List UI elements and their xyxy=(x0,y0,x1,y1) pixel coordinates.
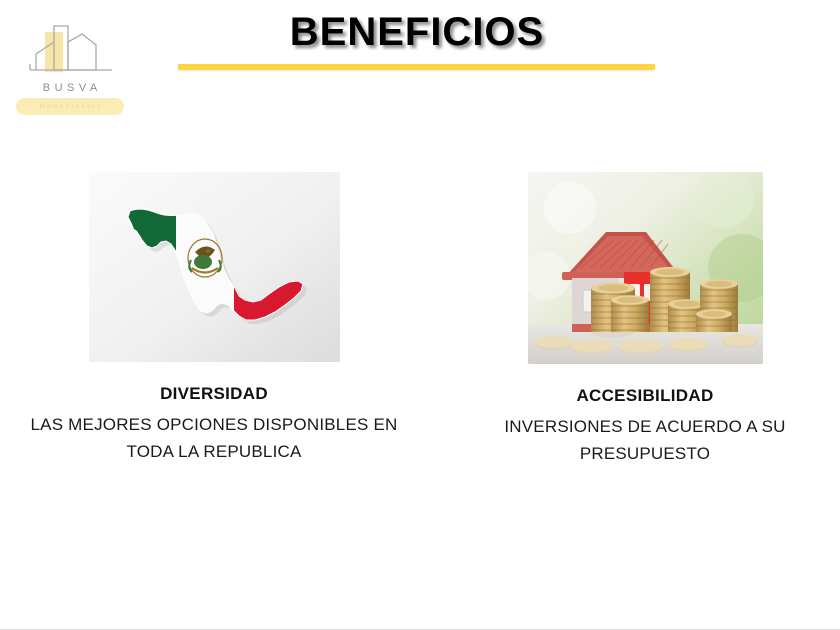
benefit-description: LAS MEJORES OPCIONES DISPONIBLES EN TODA… xyxy=(8,411,420,465)
page-title: BENEFICIOS xyxy=(178,12,656,52)
building-outline-icon xyxy=(16,22,124,84)
brand-tagline: Homebrokers xyxy=(37,103,102,110)
title-underline-rule xyxy=(178,64,655,70)
benefit-description: INVERSIONES DE ACUERDO A SU PRESUPUESTO xyxy=(440,413,840,467)
benefit-column-accesibilidad: ACCESIBILIDAD INVERSIONES DE ACUERDO A S… xyxy=(440,170,840,467)
slide-canvas: BUSVA Homebrokers BENEFICIOS xyxy=(0,0,840,629)
mexico-map-flag-image xyxy=(89,172,340,362)
house-with-coin-stacks-image xyxy=(528,172,763,364)
benefit-heading: ACCESIBILIDAD xyxy=(440,386,840,406)
brand-logo[interactable]: BUSVA Homebrokers xyxy=(16,22,124,114)
brand-name: BUSVA xyxy=(16,82,124,94)
benefit-column-diversidad: DIVERSIDAD LAS MEJORES OPCIONES DISPONIB… xyxy=(8,170,420,465)
benefit-heading: DIVERSIDAD xyxy=(8,384,420,404)
brand-tagline-pill: Homebrokers xyxy=(16,98,124,115)
